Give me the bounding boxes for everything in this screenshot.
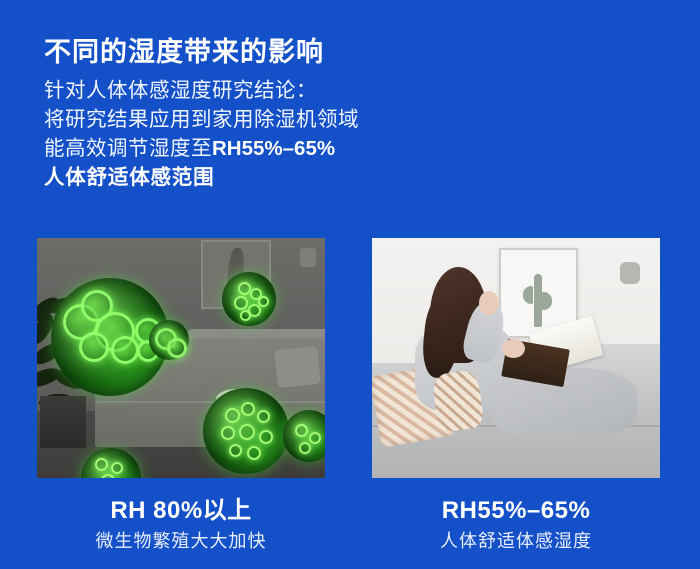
wall-knob bbox=[300, 248, 316, 267]
body-line-1: 针对人体体感湿度研究结论： bbox=[44, 76, 474, 105]
body-line-2: 将研究结果应用到家用除湿机领域 bbox=[44, 105, 474, 134]
rh-range-accent: RH55%–65% bbox=[212, 137, 335, 160]
page-title: 不同的湿度带来的影响 bbox=[44, 36, 324, 70]
sofa-cushion bbox=[274, 346, 321, 389]
caption-primary: RH55%–65% bbox=[372, 496, 660, 526]
microbe-small-upper bbox=[222, 272, 276, 326]
sofa-seam bbox=[97, 401, 325, 403]
caption-secondary: 人体舒适体感湿度 bbox=[372, 528, 660, 554]
caption-primary: RH 80%以上 bbox=[37, 496, 325, 526]
body-line-4: 人体舒适体感范围 bbox=[44, 163, 474, 192]
caption-comfort-humidity: RH55%–65% 人体舒适体感湿度 bbox=[372, 496, 660, 554]
figure-hand bbox=[479, 291, 499, 315]
microbe-cluster-edge bbox=[149, 320, 189, 360]
body-line-3: 能高效调节湿度至RH55%–65% bbox=[44, 134, 474, 163]
figure-hand-on-book bbox=[502, 339, 525, 358]
microbe-lower-right bbox=[203, 388, 289, 474]
scene-dim-livingroom bbox=[37, 238, 325, 478]
body-copy: 针对人体体感湿度研究结论： 将研究结果应用到家用除湿机领域 能高效调节湿度至RH… bbox=[44, 76, 474, 192]
photo-high-humidity bbox=[37, 238, 325, 478]
wall-knob bbox=[620, 262, 640, 284]
photo-comfort-humidity bbox=[372, 238, 660, 478]
plant-pot bbox=[40, 396, 86, 448]
scene-bright-livingroom bbox=[372, 238, 660, 478]
humidity-infographic-poster: 不同的湿度带来的影响 针对人体体感湿度研究结论： 将研究结果应用到家用除湿机领域… bbox=[0, 0, 700, 569]
cactus-illustration bbox=[534, 274, 542, 328]
body-line-3-prefix: 能高效调节湿度至 bbox=[44, 137, 212, 160]
caption-secondary: 微生物繁殖大大加快 bbox=[37, 528, 325, 554]
caption-high-humidity: RH 80%以上 微生物繁殖大大加快 bbox=[37, 496, 325, 554]
